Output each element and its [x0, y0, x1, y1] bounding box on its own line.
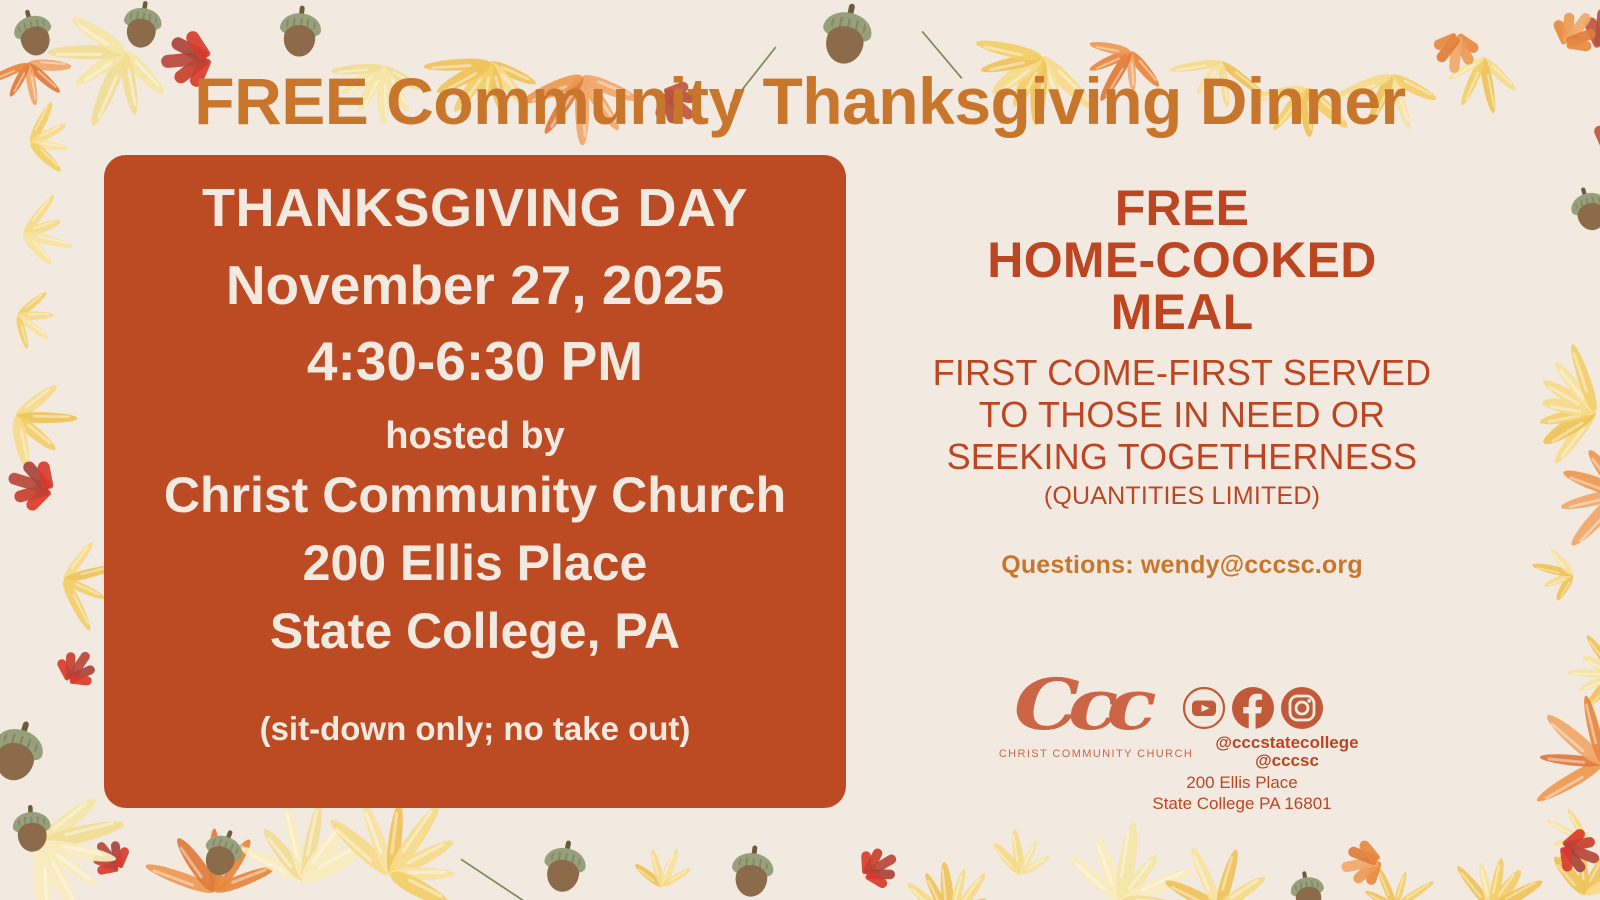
social-icons-row — [1182, 686, 1324, 730]
logo-row: Ccc CHRIST COMMUNITY CHURCH — [862, 672, 1502, 764]
acorn-decoration — [195, 827, 248, 883]
facebook-icon[interactable] — [1231, 686, 1275, 730]
host-organization: Christ Community Church — [104, 466, 846, 524]
acorn-decoration — [119, 2, 165, 53]
venue-city-state: State College, PA — [104, 602, 846, 660]
footer-address-line2: State College PA 16801 — [1042, 793, 1442, 814]
acorn-decoration — [0, 718, 50, 789]
offer-line-home-cooked: HOME-COOKED — [862, 234, 1502, 286]
event-time: 4:30-6:30 PM — [104, 329, 846, 393]
maple-leaf-decoration — [1583, 264, 1600, 353]
page-title: FREE Community Thanksgiving Dinner — [0, 68, 1600, 134]
event-date: November 27, 2025 — [104, 253, 846, 317]
acorn-decoration — [9, 8, 59, 62]
offer-detail-first-come: FIRST COME-FIRST SERVED — [862, 352, 1502, 394]
youtube-icon[interactable] — [1182, 686, 1226, 730]
venue-street: 200 Ellis Place — [104, 534, 846, 592]
questions-contact[interactable]: Questions: wendy@cccsc.org — [862, 551, 1502, 580]
offer-column: FREE HOME-COOKED MEAL FIRST COME-FIRST S… — [862, 182, 1502, 580]
acorn-decoration — [1288, 872, 1329, 900]
handle-primary: @cccstatecollege — [1172, 734, 1402, 752]
maple-leaf-decoration — [28, 637, 112, 720]
event-details-panel: THANKSGIVING DAY November 27, 2025 4:30-… — [104, 155, 846, 808]
offer-detail-in-need: TO THOSE IN NEED OR — [862, 394, 1502, 436]
hosted-by-label: hosted by — [104, 415, 846, 458]
maple-leaf-decoration — [0, 439, 96, 537]
acorn-decoration — [276, 7, 324, 60]
thanksgiving-dinner-flyer: FREE Community Thanksgiving Dinner THANK… — [0, 0, 1600, 900]
acorn-decoration — [1566, 185, 1600, 236]
maple-leaf-decoration — [0, 860, 75, 900]
ccc-logo-script: Ccc — [1014, 670, 1145, 740]
maple-leaf-decoration — [1338, 820, 1417, 900]
stem-decoration — [460, 858, 539, 900]
maple-leaf-decoration — [1521, 802, 1600, 891]
seating-note: (sit-down only; no take out) — [104, 710, 846, 748]
acorn-decoration — [815, 3, 877, 71]
footer-address-line1: 200 Ellis Place — [1042, 772, 1442, 793]
church-logo-block: Ccc CHRIST COMMUNITY CHURCH — [862, 672, 1502, 764]
quantities-limited-note: (QUANTITIES LIMITED) — [862, 482, 1502, 511]
offer-detail-togetherness: SEEKING TOGETHERNESS — [862, 436, 1502, 478]
footer-address: 200 Ellis Place State College PA 16801 — [1042, 772, 1442, 815]
ccc-logo-icon: Ccc — [1010, 668, 1170, 760]
maple-leaf-decoration — [824, 830, 910, 900]
offer-line-free: FREE — [862, 182, 1502, 234]
acorn-decoration — [728, 847, 777, 900]
acorn-decoration — [11, 807, 53, 854]
social-handles: @cccstatecollege @cccsc — [1172, 734, 1402, 771]
maple-leaf-decoration — [1419, 1, 1495, 73]
offer-line-meal: MEAL — [862, 286, 1502, 338]
event-day: THANKSGIVING DAY — [104, 177, 846, 239]
instagram-icon[interactable] — [1280, 686, 1324, 730]
acorn-decoration — [538, 840, 590, 897]
maple-leaf-decoration — [76, 826, 158, 900]
handle-secondary: @cccsc — [1172, 752, 1402, 770]
